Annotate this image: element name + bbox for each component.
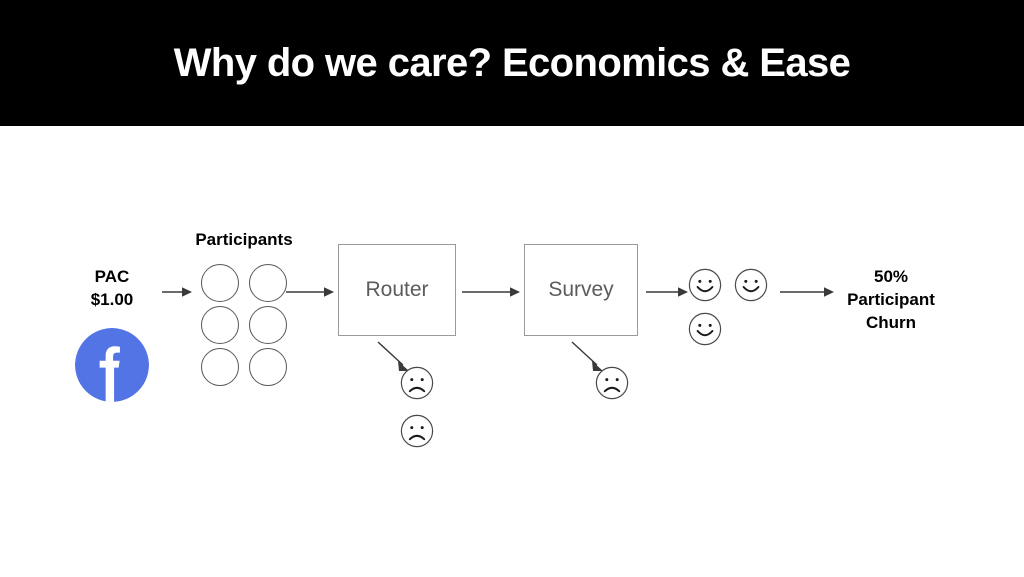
- dropoff-faces-router: [400, 366, 436, 453]
- facebook-logo: [75, 328, 149, 402]
- participant-circle-grid: [201, 264, 287, 386]
- participants-title: Participants: [184, 230, 304, 250]
- router-label: Router: [365, 278, 428, 302]
- arrow-survey-to-completed: [646, 285, 688, 299]
- arrow-participants-to-router: [286, 285, 334, 299]
- participant-circle: [201, 348, 239, 386]
- sad-face-icon: [400, 414, 434, 448]
- dropoff-faces-survey: [595, 366, 631, 405]
- arrow-router-to-survey: [462, 285, 520, 299]
- pac-label: PAC $1.00: [60, 266, 164, 312]
- participant-circle: [249, 348, 287, 386]
- flow-diagram: PAC $1.00 Participants: [0, 126, 1024, 577]
- completed-faces-row: [688, 268, 770, 302]
- participant-circle: [201, 264, 239, 302]
- happy-face-icon: [688, 312, 722, 346]
- happy-face-icon: [688, 268, 722, 302]
- churn-group: 50% Participant Churn: [828, 266, 954, 335]
- participant-circle: [201, 306, 239, 344]
- churn-label: 50% Participant Churn: [828, 266, 954, 335]
- sad-face-icon: [595, 366, 629, 400]
- slide-title-bar: Why do we care? Economics & Ease: [0, 0, 1024, 126]
- survey-box: Survey: [524, 244, 638, 336]
- router-box: Router: [338, 244, 456, 336]
- completed-faces-row: [688, 312, 770, 346]
- happy-face-icon: [734, 268, 768, 302]
- slide: Why do we care? Economics & Ease PAC $1.…: [0, 0, 1024, 577]
- completed-faces-group: [688, 268, 770, 346]
- sad-face-icon: [400, 366, 434, 400]
- slide-title: Why do we care? Economics & Ease: [174, 41, 851, 86]
- pac-group: PAC $1.00: [60, 266, 164, 402]
- survey-label: Survey: [548, 278, 613, 302]
- participants-group: Participants: [184, 230, 304, 386]
- arrow-completed-to-churn: [780, 285, 834, 299]
- participant-circle: [249, 306, 287, 344]
- participant-circle: [249, 264, 287, 302]
